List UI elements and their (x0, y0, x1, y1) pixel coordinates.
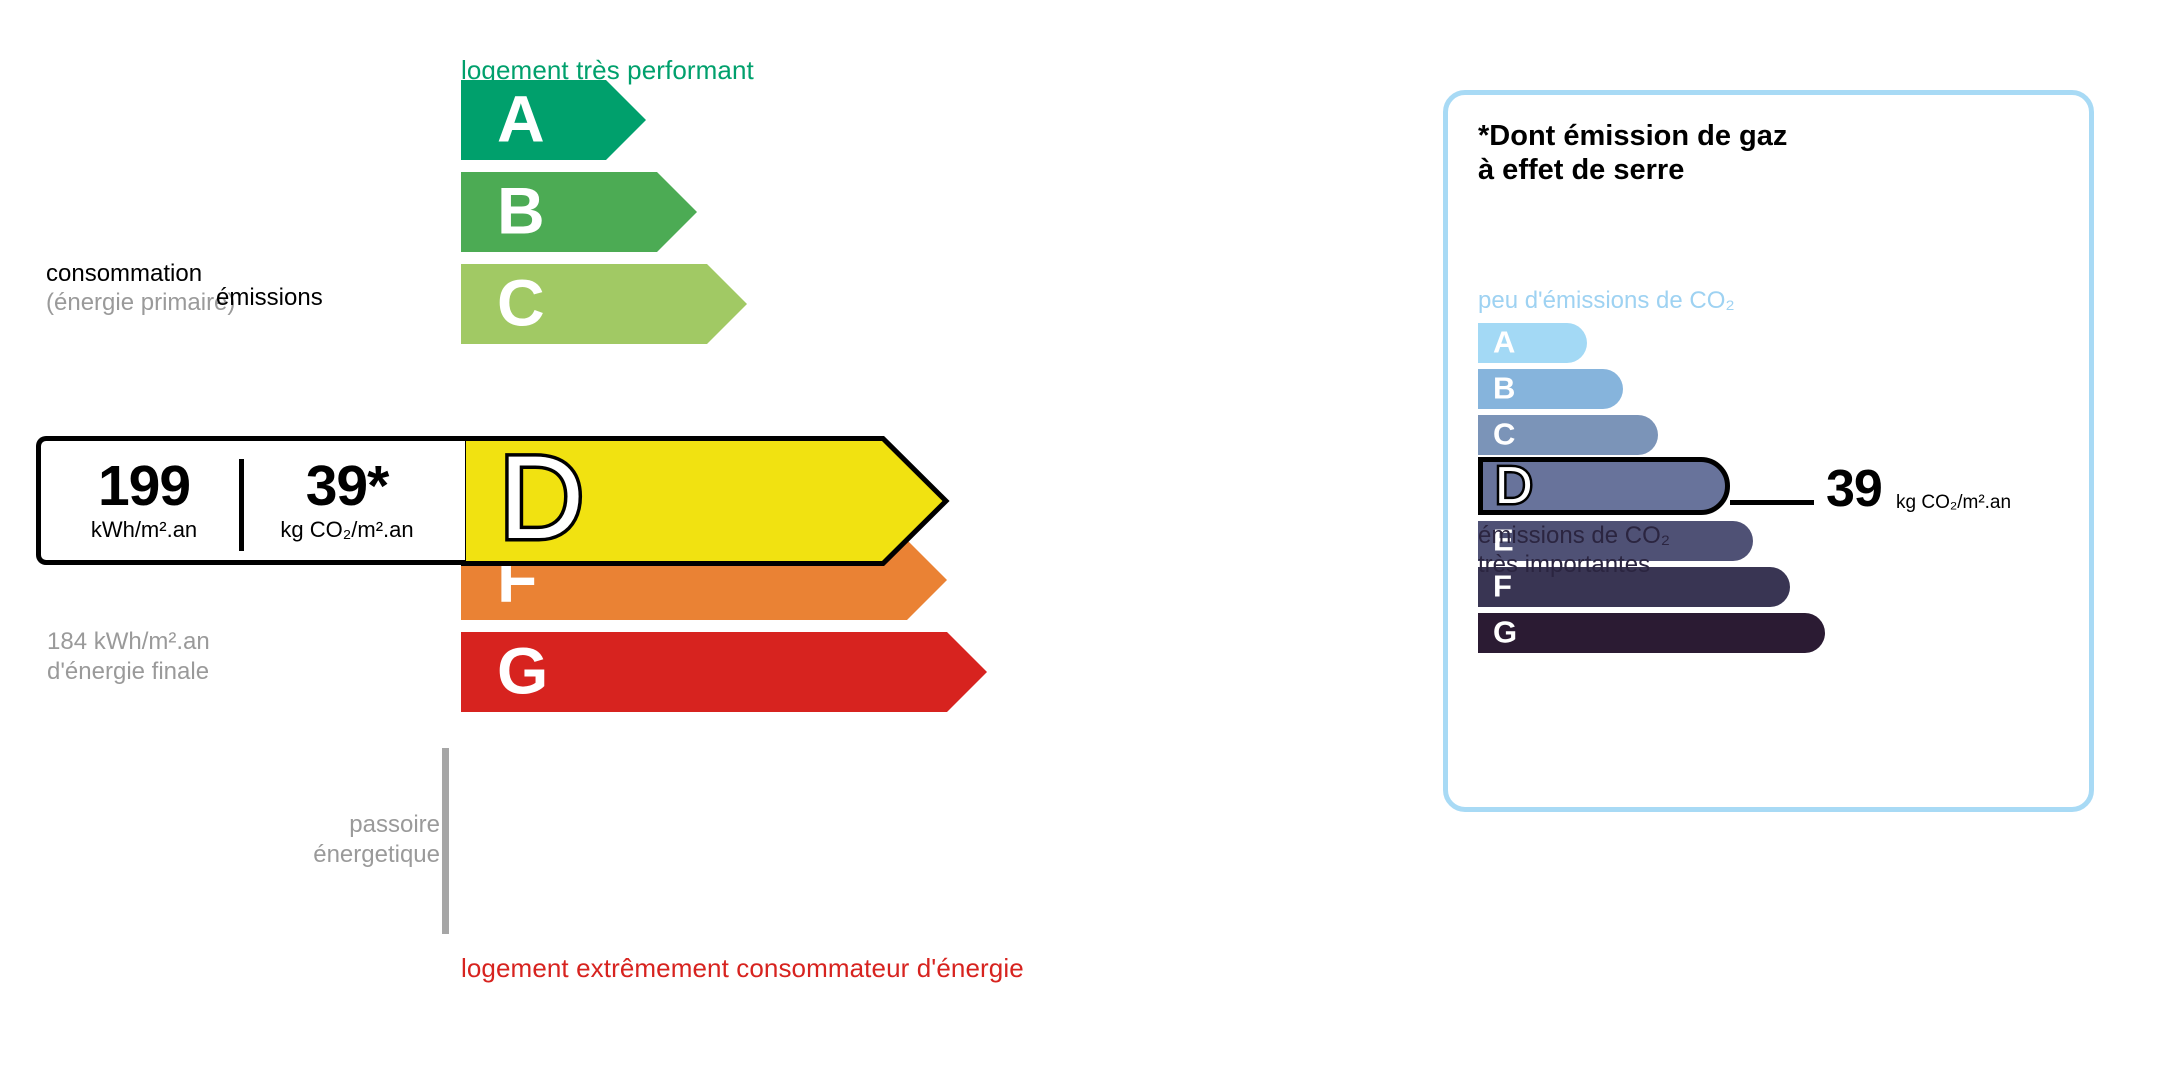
co2-title-line1: *Dont émission de gaz (1478, 119, 1787, 153)
consumption-unit: kWh/m².an (53, 517, 235, 542)
co2-row-a[interactable]: A (1478, 323, 1587, 363)
passoire-indicator-bar (442, 748, 449, 934)
co2-row-c[interactable]: C (1478, 415, 1658, 455)
final-energy-line1: 184 kWh/m².an (47, 627, 210, 657)
ladder-bottom-caption: logement extrêmement consommateur d'éner… (461, 953, 1024, 984)
co2-value-connector-line (1730, 500, 1814, 505)
energy-row-g[interactable]: G (461, 632, 987, 712)
final-energy-note: 184 kWh/m².an d'énergie finale (47, 627, 210, 687)
consumption-header-main: consommation (46, 260, 202, 287)
energy-letter-g: G (497, 638, 548, 704)
co2-emissions-panel: *Dont émission de gaz à effet de serre p… (1443, 90, 2094, 812)
co2-title-line2: à effet de serre (1478, 153, 1787, 187)
svg-text:D: D (1495, 463, 1533, 511)
co2-letter-g: G (1493, 617, 1517, 648)
dpe-energy-label: logement très performant A B (0, 0, 2169, 1079)
co2-value: 39 (1826, 463, 1882, 515)
co2-bar-g (1478, 613, 1825, 653)
svg-text:D: D (499, 450, 584, 552)
co2-panel-title: *Dont émission de gaz à effet de serre (1478, 119, 1787, 187)
co2-row-g[interactable]: G (1478, 613, 1825, 653)
co2-caption-high-line1: émissions de CO₂ (1478, 521, 1670, 550)
co2-letter-a: A (1493, 327, 1515, 358)
consumption-header: consommation (énergie primaire) (46, 260, 235, 318)
emissions-value: 39* (248, 457, 446, 515)
co2-row-b[interactable]: B (1478, 369, 1623, 409)
energy-letter-b: B (497, 178, 545, 244)
energy-letter-c: C (497, 270, 545, 336)
emissions-unit: kg CO₂/m².an (248, 517, 446, 542)
co2-row-d-selected[interactable]: D (1478, 457, 1730, 515)
values-divider (239, 459, 244, 551)
energy-row-a[interactable]: A (461, 80, 646, 160)
energy-consumption-ladder: logement très performant A B (0, 0, 1400, 1079)
co2-value-unit: kg CO₂/m².an (1896, 492, 2011, 514)
energy-bar-a (461, 80, 646, 160)
emissions-value-cell: 39* kg CO₂/m².an (248, 457, 446, 542)
co2-letter-c: C (1493, 419, 1515, 450)
co2-letter-b: B (1493, 373, 1515, 404)
co2-caption-high: émissions de CO₂ très importantes (1478, 521, 1670, 580)
passoire-line2: énergetique (120, 840, 440, 870)
energy-letter-a: A (497, 86, 545, 152)
co2-caption-low: peu d'émissions de CO₂ (1478, 287, 1735, 315)
energy-row-d-selected[interactable]: D (461, 436, 949, 566)
consumption-header-sub: (énergie primaire) (46, 289, 235, 318)
consumption-value-cell: 199 kWh/m².an (53, 457, 235, 542)
passoire-line1: passoire (120, 810, 440, 840)
energy-letter-d: D (495, 450, 605, 552)
emissions-header: émissions (216, 284, 323, 313)
consumption-value: 199 (53, 457, 235, 515)
energy-row-c[interactable]: C (461, 264, 747, 344)
energy-row-b[interactable]: B (461, 172, 697, 252)
co2-caption-high-line2: très importantes (1478, 550, 1670, 579)
values-box: 199 kWh/m².an 39* kg CO₂/m².an (36, 436, 465, 565)
final-energy-line2: d'énergie finale (47, 657, 210, 687)
co2-letter-d: D (1492, 463, 1554, 511)
passoire-label: passoire énergetique (120, 810, 440, 870)
